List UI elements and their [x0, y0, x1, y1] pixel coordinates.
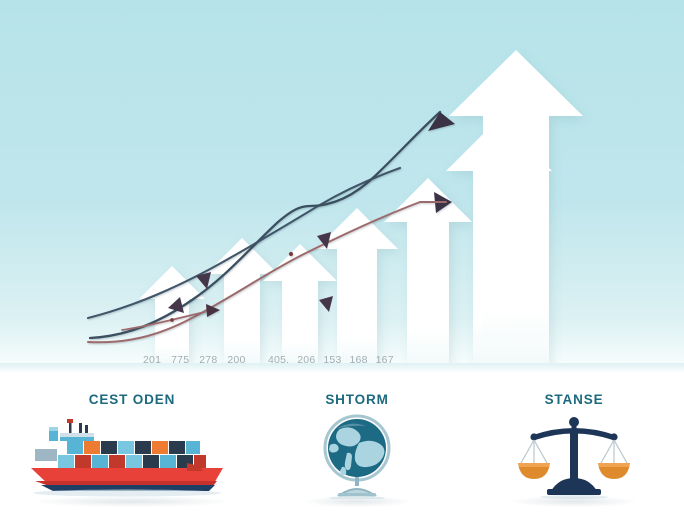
- feature-panel: CEST ODEN: [0, 363, 684, 513]
- feature-stanse[interactable]: STANSE: [474, 363, 674, 513]
- illustration-canvas: 201 775 278 200 405. 206 153 168 167 CES…: [0, 0, 684, 513]
- feature-title: STANSE: [545, 392, 604, 407]
- globe-stand-post: [355, 477, 359, 486]
- datapoint-lower: [289, 252, 293, 256]
- container-row-bottom: [58, 455, 206, 468]
- ship-shadow: [32, 496, 232, 507]
- container-ship-icon: [27, 413, 237, 497]
- container-row-top: [67, 441, 200, 454]
- growth-chart-graphic: [0, 0, 684, 363]
- scales-shadow: [510, 496, 638, 507]
- feature-title: CEST ODEN: [89, 392, 175, 407]
- datapoint-short: [170, 318, 174, 322]
- chart-panel: 201 775 278 200 405. 206 153 168 167: [0, 0, 684, 363]
- feature-shtorm[interactable]: SHTORM: [252, 363, 462, 513]
- feature-cest-oden[interactable]: CEST ODEN: [22, 363, 242, 513]
- balance-scales-icon: [509, 413, 639, 499]
- feature-title: SHTORM: [325, 392, 388, 407]
- globe-icon: [302, 413, 412, 499]
- scales-post: [570, 429, 578, 479]
- globe-shadow: [303, 496, 411, 507]
